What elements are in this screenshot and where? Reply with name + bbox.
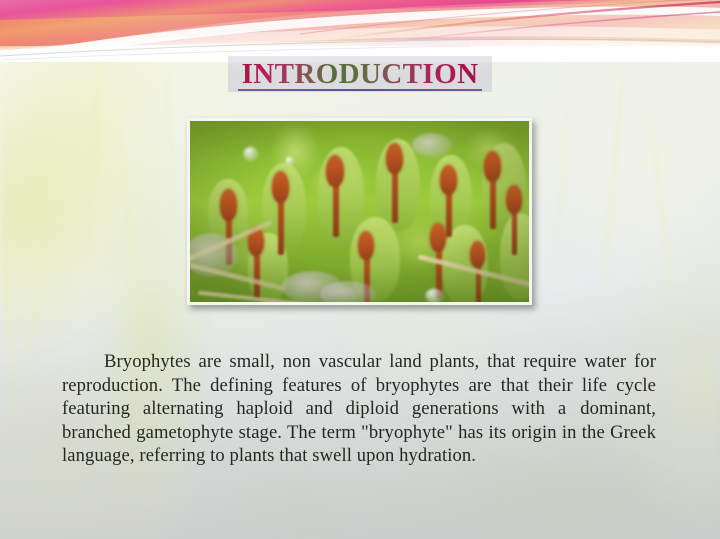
- slide-title-container: INTRODUCTION: [0, 56, 720, 92]
- title-underline: [238, 89, 483, 91]
- title-backing-box: INTRODUCTION: [228, 56, 493, 92]
- presentation-slide: INTRODUCTION: [0, 0, 720, 539]
- bryophyte-moss-photo: [187, 118, 532, 305]
- decorative-ribbon-banner: [0, 0, 720, 62]
- photo-vignette: [190, 121, 529, 302]
- body-paragraph-part-1: Bryophytes are small, non vascular land …: [62, 351, 656, 419]
- body-paragraph: Bryophytes are small, non vascular land …: [62, 350, 656, 468]
- page-title: INTRODUCTION: [242, 59, 479, 90]
